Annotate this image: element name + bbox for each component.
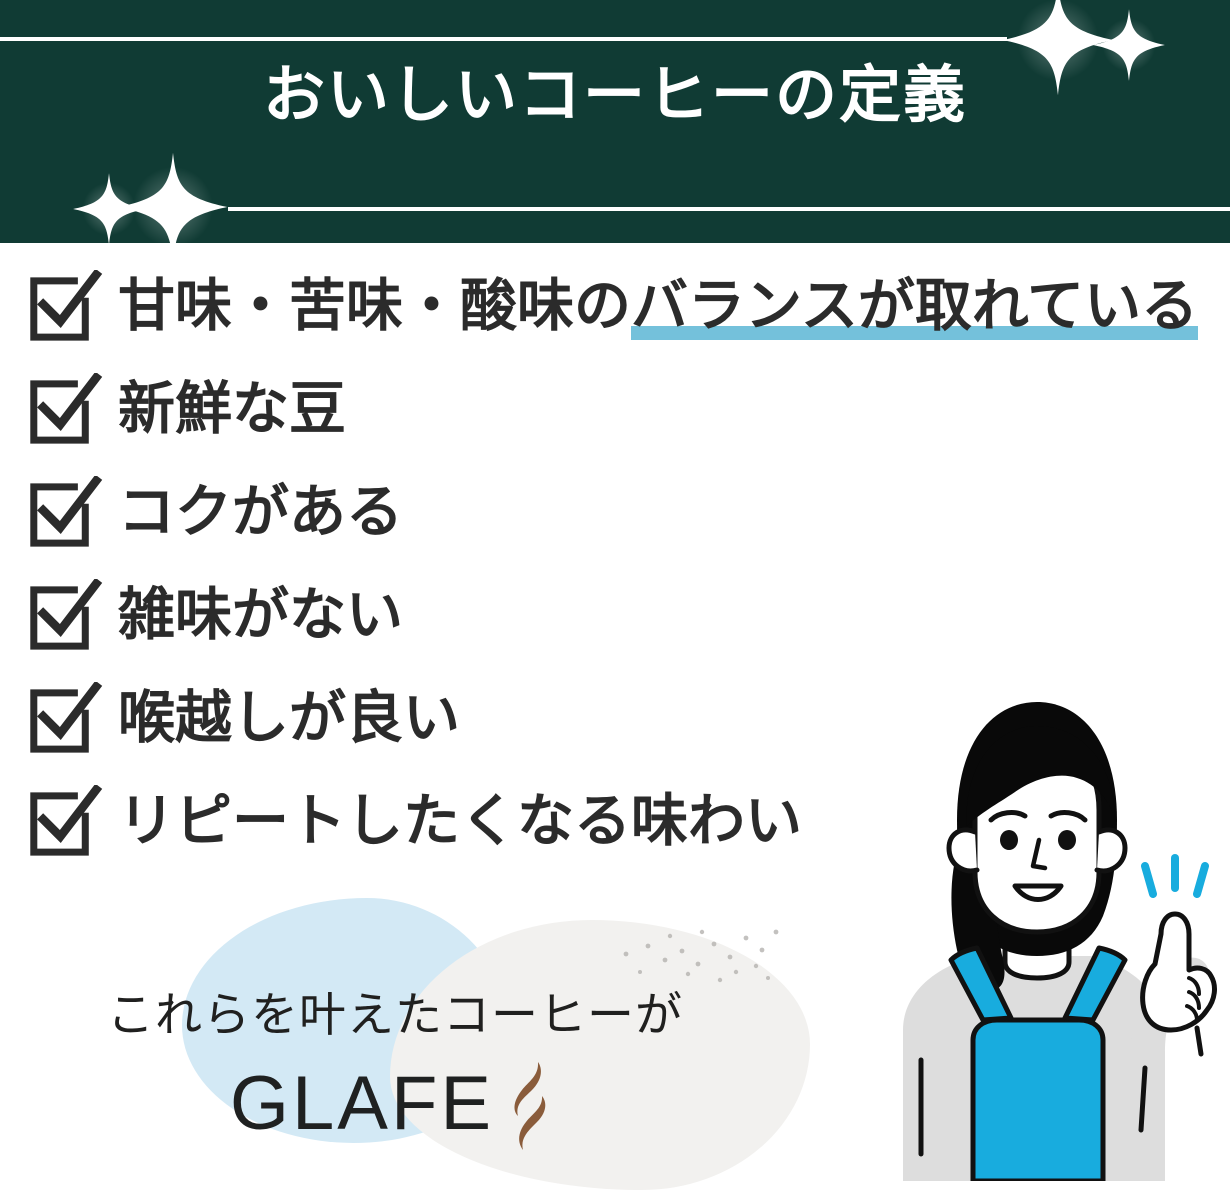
brand-tagline: これらを叶えたコーヒーが — [0, 976, 790, 1045]
list-item-text-plain: 喉越しが良い — [118, 686, 460, 750]
checkbox-checked-icon — [26, 579, 104, 657]
checkbox-checked-icon — [26, 373, 104, 451]
list-item-text-plain: 新鮮な豆 — [118, 377, 346, 441]
list-item-text-plain: コクがある — [118, 480, 403, 544]
list-item-label: リピートしたくなる味わい — [118, 793, 802, 850]
coffee-steam-icon — [498, 1060, 560, 1152]
list-item-label: コクがある — [118, 484, 403, 541]
sparkle-icon — [114, 148, 232, 243]
checkbox-checked-icon — [26, 682, 104, 760]
list-item-text-highlight: バランスが取れている — [631, 274, 1198, 340]
page-title: おいしいコーヒーの定義 — [0, 60, 1230, 131]
list-item: コクがある — [0, 461, 1230, 564]
list-item-label: 雑味がない — [118, 587, 403, 644]
header-banner: おいしいコーヒーの定義 — [0, 0, 1230, 243]
checkbox-checked-icon — [26, 476, 104, 554]
checkbox-checked-icon — [26, 270, 104, 348]
list-item-label: 新鮮な豆 — [118, 381, 346, 438]
list-item: 新鮮な豆 — [0, 358, 1230, 461]
header-top-rule — [0, 37, 1007, 41]
woman-pointing-up-illustration — [845, 660, 1230, 1181]
list-item: 甘味・苦味・酸味のバランスが取れている — [0, 255, 1230, 358]
list-item-label: 喉越しが良い — [118, 690, 460, 747]
brand-logo: GLAFE — [0, 1058, 790, 1150]
header-bottom-rule — [228, 207, 1230, 211]
sparkle-icon — [70, 170, 148, 243]
checkbox-checked-icon — [26, 785, 104, 863]
list-item-text-plain: 甘味・苦味・酸味の — [118, 274, 631, 338]
list-item-label: 甘味・苦味・酸味のバランスが取れている — [118, 278, 1198, 335]
brand-logo-text: GLAFE — [230, 1066, 494, 1142]
list-item: 雑味がない — [0, 564, 1230, 667]
list-item-text-plain: リピートしたくなる味わい — [118, 789, 802, 853]
list-item-text-plain: 雑味がない — [118, 583, 403, 647]
